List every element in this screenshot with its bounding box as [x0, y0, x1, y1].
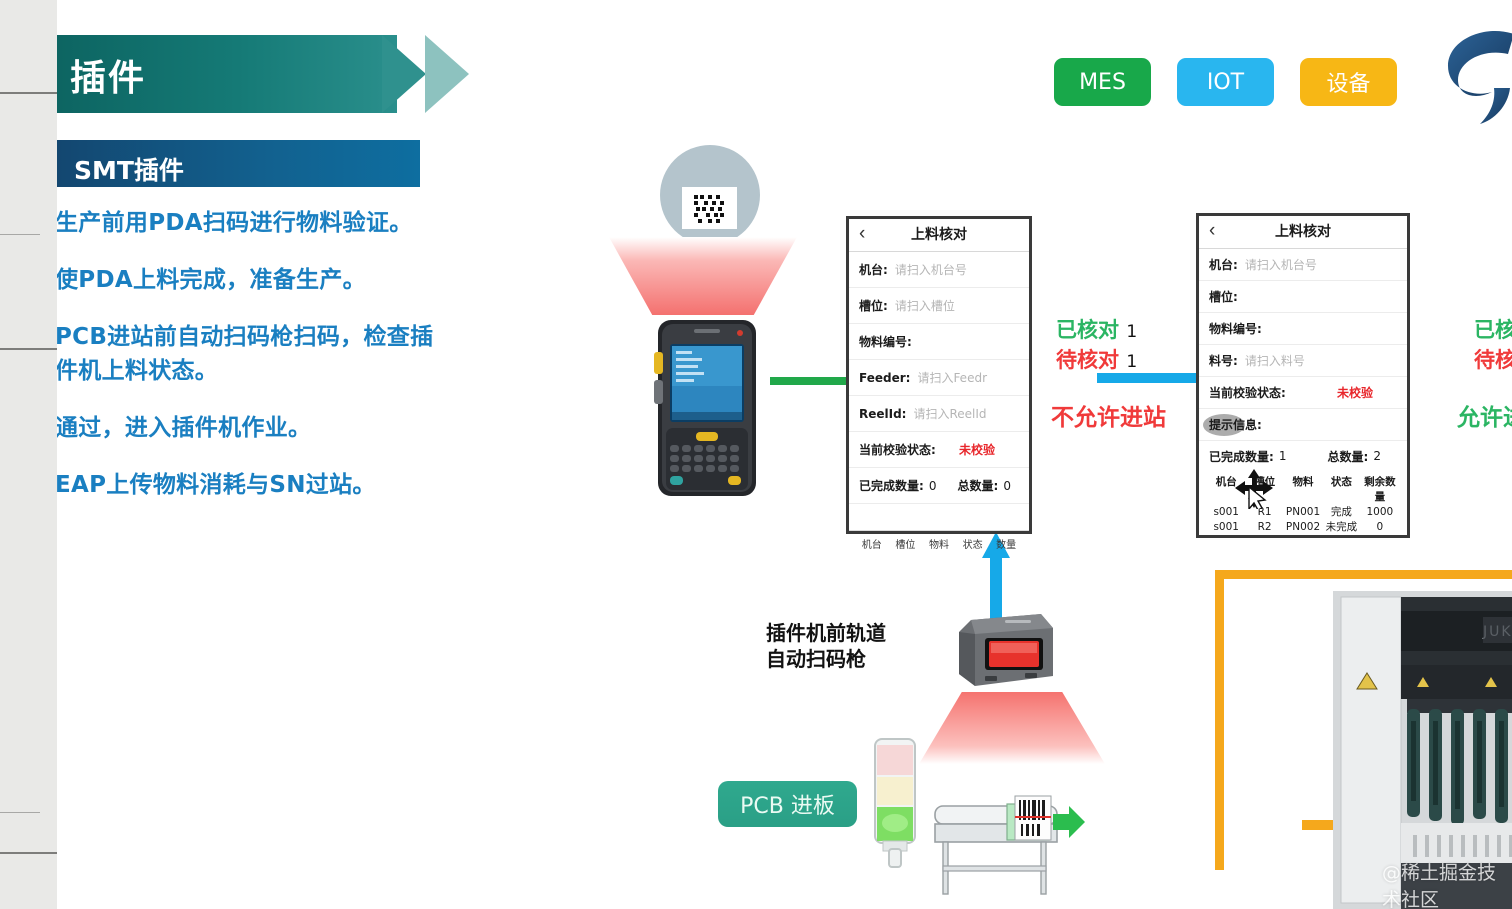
list-item: • EAP上传物料消耗与SN过站。	[57, 468, 453, 502]
quantity-summary-row: 已完成数量: 0 总数量: 0	[849, 468, 1029, 504]
col-status: 状态	[1322, 475, 1360, 505]
system-tag-row: MES IOT 设备	[1054, 58, 1397, 106]
verify-status-label: 当前校验状态:	[859, 441, 936, 458]
field-material-no-label: 物料编号:	[859, 333, 912, 350]
annotation-result-allow: 允许进站+	[1457, 398, 1512, 432]
qr-code-icon	[682, 187, 737, 229]
tag-iot[interactable]: IOT	[1177, 58, 1274, 106]
company-swoosh-logo-icon	[1436, 18, 1512, 126]
section-subtitle: SMT插件	[74, 151, 184, 187]
field-slot[interactable]: 槽位:	[1199, 281, 1407, 313]
field-machine-placeholder: 请扫入机台号	[895, 261, 967, 278]
col-status: 状态	[956, 536, 990, 551]
col-qty: 数量	[989, 536, 1023, 551]
total-count-value: 2	[1373, 449, 1381, 463]
field-part-no-label: 料号:	[1209, 352, 1238, 369]
bullet-text: PCB进站前自动扫码枪扫码，检查插件机上料状态。	[57, 320, 453, 388]
ruler-tick	[0, 92, 57, 94]
total-count-label: 总数量:	[958, 477, 999, 494]
done-count-label: 已完成数量:	[859, 477, 924, 494]
verify-status-row: 当前校验状态: 未校验	[849, 432, 1029, 468]
field-machine-placeholder: 请扫入机台号	[1245, 256, 1317, 273]
total-count-label: 总数量:	[1328, 448, 1369, 465]
back-chevron-icon[interactable]: ‹	[1209, 220, 1215, 242]
field-feeder-placeholder: 请扫入Feedr	[917, 369, 987, 386]
list-item: • 生产前用PDA扫码进行物料验证。	[57, 206, 453, 240]
cell-status: 未完成	[1322, 520, 1360, 535]
annotation-pending-right: 待核对	[1474, 344, 1512, 374]
done-count-label: 已完成数量:	[1209, 448, 1274, 465]
ruler-tick	[0, 812, 40, 813]
field-material-no[interactable]: 物料编号:	[849, 324, 1029, 360]
slide-title-banner: 插件	[57, 35, 512, 113]
tag-mes[interactable]: MES	[1054, 58, 1151, 106]
tag-mes-label: MES	[1079, 70, 1126, 95]
tips-row: 提示信息:	[1199, 409, 1407, 441]
done-count-value: 0	[929, 479, 937, 493]
field-machine-label: 机台:	[859, 261, 888, 278]
cell-slot: R2	[1245, 520, 1283, 535]
list-item: • 使PDA上料完成，准备生产。	[57, 263, 453, 297]
verify-status-row: 当前校验状态: 未校验	[1199, 377, 1407, 409]
done-count-value: 1	[1279, 449, 1287, 463]
app-header: ‹ 上料核对	[1199, 216, 1407, 249]
annotation-checked-right: 已核对	[1474, 314, 1512, 344]
status-badge: 未校验	[1337, 384, 1373, 401]
pcb-infeed-button[interactable]: PCB 进板	[718, 781, 857, 827]
col-remaining: 剩余数量	[1361, 475, 1399, 505]
app-title: 上料核对	[849, 219, 1029, 251]
bullet-text: 通过，进入插件机作业。	[57, 411, 311, 445]
annotation-pending-mid: 待核对 1	[1056, 344, 1137, 374]
annotation-pending-label: 待核对	[1056, 348, 1119, 372]
cell-machine: s001	[1207, 520, 1245, 535]
scanner-gun-label: 插件机前轨道 自动扫码枪	[766, 620, 886, 672]
page-title: 插件	[70, 49, 146, 101]
annotation-checked-mid: 已核对 1	[1056, 314, 1137, 344]
total-count-value: 0	[1003, 479, 1011, 493]
bullet-text: EAP上传物料消耗与SN过站。	[57, 468, 376, 502]
slide-canvas: 插件 SMT插件 • 生产前用PDA扫码进行物料验证。 • 使PDA上料完成，准…	[57, 0, 1512, 909]
field-material-no[interactable]: 物料编号:	[1199, 313, 1407, 345]
field-part-no[interactable]: 料号: 请扫入料号	[1199, 345, 1407, 377]
cell-material: PN002	[1284, 520, 1322, 535]
bullet-text: 生产前用PDA扫码进行物料验证。	[57, 206, 413, 240]
bullet-list: • 生产前用PDA扫码进行物料验证。 • 使PDA上料完成，准备生产。 • PC…	[57, 206, 453, 525]
status-badge: 未校验	[959, 441, 995, 458]
watermark-text: @稀土掘金技术社区	[1382, 858, 1512, 909]
page-margin-ruler	[0, 0, 57, 909]
field-feeder-label: Feeder:	[859, 371, 910, 385]
field-machine[interactable]: 机台: 请扫入机台号	[849, 252, 1029, 288]
field-material-no-label: 物料编号:	[1209, 320, 1262, 337]
field-slot-placeholder: 请扫入槽位	[895, 297, 955, 314]
move-cursor-icon	[1235, 469, 1273, 509]
scanner-gun-label-line1: 插件机前轨道	[766, 620, 886, 646]
back-chevron-icon[interactable]: ‹	[859, 223, 865, 245]
tag-equipment-label: 设备	[1326, 66, 1370, 98]
field-reelid[interactable]: ReelId: 请扫入ReelId	[849, 396, 1029, 432]
annotation-checked-label: 已核对	[1056, 318, 1119, 342]
col-material: 物料	[922, 536, 956, 551]
pda-handheld-device-icon	[654, 318, 760, 498]
cell-material: PN001	[1284, 505, 1322, 520]
mobile-app-screen-before: ‹ 上料核对 机台: 请扫入机台号 槽位: 请扫入槽位 物料编号: Feeder…	[846, 216, 1032, 534]
annotation-result-deny: 不允许进站	[1051, 398, 1166, 432]
annotation-checked-value: 1	[1126, 322, 1137, 342]
verify-status-label: 当前校验状态:	[1209, 384, 1286, 401]
field-machine[interactable]: 机台: 请扫入机台号	[1199, 249, 1407, 281]
section-subtitle-bar: SMT插件	[57, 140, 420, 187]
quantity-summary-row: 已完成数量: 1 总数量: 2	[1199, 441, 1407, 471]
ruler-tick	[0, 234, 40, 235]
tag-iot-label: IOT	[1207, 70, 1244, 95]
tag-equipment[interactable]: 设备	[1300, 58, 1397, 106]
cell-status: 完成	[1322, 505, 1360, 520]
cell-remaining: 1000	[1361, 505, 1399, 520]
pcb-infeed-label: PCB 进板	[740, 788, 835, 820]
result-table: 机台 槽位 物料 状态 剩余数量 s001 R1 PN001 完成 1000 s…	[1199, 471, 1407, 535]
scanner-beam-top	[609, 237, 797, 315]
andon-tower-light-icon	[866, 735, 924, 870]
scanner-beam-bottom	[919, 692, 1105, 764]
ruler-tick	[0, 348, 57, 350]
mobile-app-screen-after: ‹ 上料核对 机台: 请扫入机台号 槽位: 物料编号: 料号: 请扫入料号 当前…	[1196, 213, 1410, 538]
field-slot[interactable]: 槽位: 请扫入槽位	[849, 288, 1029, 324]
result-table-header: 机台 槽位 物料 状态 数量	[849, 530, 1029, 551]
col-machine: 机台	[855, 536, 889, 551]
table-row: s001 R2 PN002 未完成 0	[1207, 520, 1399, 535]
conveyor-table-icon	[929, 790, 1089, 900]
scanner-gun-label-line2: 自动扫码枪	[766, 646, 886, 672]
barcode-scanner-gun-icon	[945, 612, 1057, 690]
field-feeder[interactable]: Feeder: 请扫入Feedr	[849, 360, 1029, 396]
col-material: 物料	[1284, 475, 1322, 505]
field-part-no-placeholder: 请扫入料号	[1245, 352, 1305, 369]
field-machine-label: 机台:	[1209, 256, 1238, 273]
field-slot-label: 槽位:	[859, 297, 888, 314]
field-reelid-placeholder: 请扫入ReelId	[913, 405, 986, 422]
col-slot: 槽位	[889, 536, 923, 551]
cell-remaining: 0	[1361, 520, 1399, 535]
chevron-arrow-dark-icon	[382, 35, 426, 113]
field-slot-label: 槽位:	[1209, 288, 1238, 305]
chevron-arrow-light-icon	[425, 35, 469, 113]
tips-label: 提示信息:	[1209, 416, 1262, 433]
ruler-tick	[0, 852, 57, 854]
list-item: • PCB进站前自动扫码枪扫码，检查插件机上料状态。	[57, 320, 453, 388]
list-item: • 通过，进入插件机作业。	[57, 411, 453, 445]
field-reelid-label: ReelId:	[859, 407, 906, 421]
app-header: ‹ 上料核对	[849, 219, 1029, 252]
app-title: 上料核对	[1199, 216, 1407, 248]
bullet-text: 使PDA上料完成，准备生产。	[57, 263, 366, 297]
annotation-pending-value: 1	[1126, 352, 1137, 372]
